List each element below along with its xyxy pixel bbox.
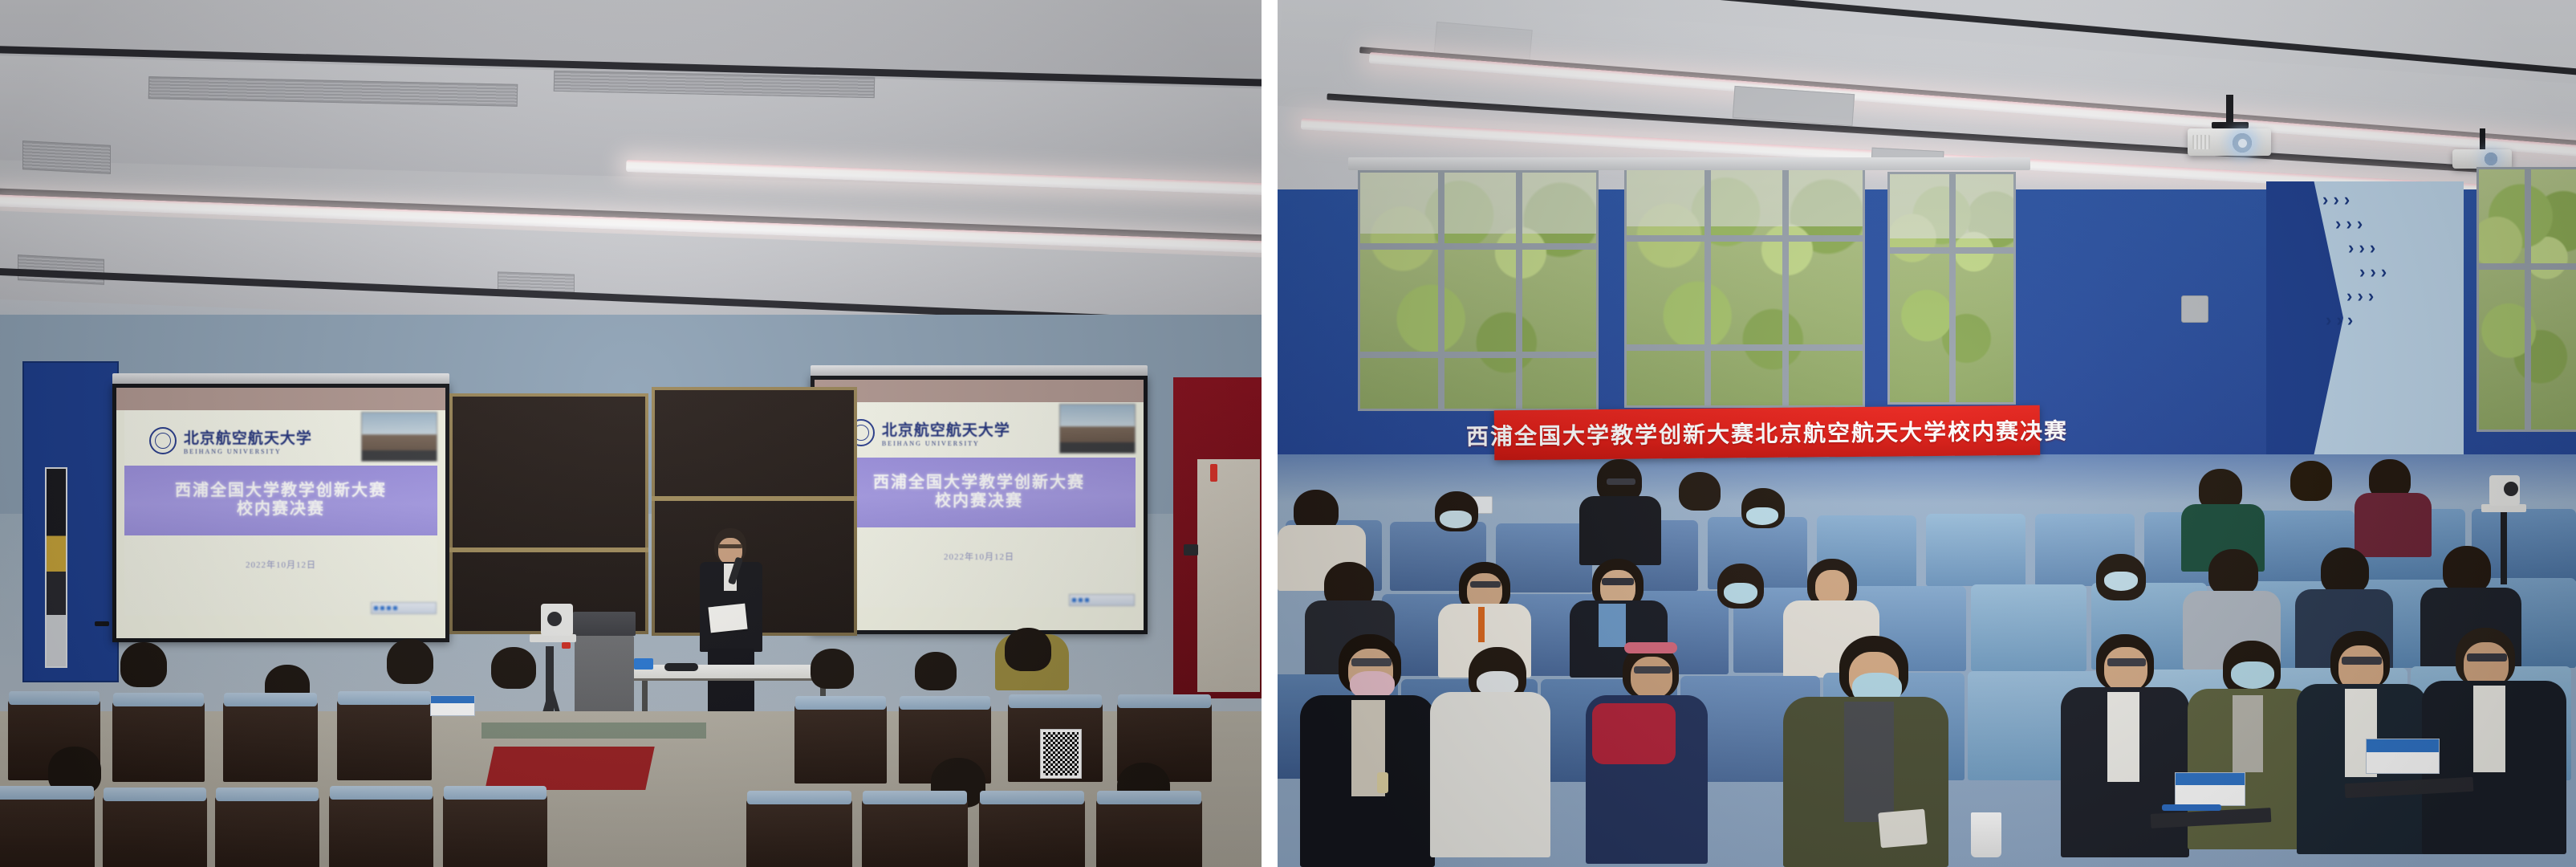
pen xyxy=(2162,804,2221,811)
blackboard-surface xyxy=(453,397,645,631)
projector-pole xyxy=(2480,128,2485,149)
seat[interactable] xyxy=(103,796,207,867)
window-center xyxy=(1624,167,1865,408)
right-photo-panel: 西浦全国大学教学创新大赛北京航空航天大学校内赛决赛 › › › › › › › … xyxy=(1278,0,2576,867)
seat[interactable] xyxy=(1926,514,2025,586)
slide-right: 北京航空航天大学 BEIHANG UNIVERSITY 西浦全国大学教学创新大赛… xyxy=(815,380,1144,630)
face-mask xyxy=(1440,511,1472,528)
judge-face xyxy=(2104,647,2147,692)
slide-title-line2-left: 校内赛决赛 xyxy=(237,500,325,519)
seat[interactable] xyxy=(1971,584,2086,671)
audience-face xyxy=(1631,657,1672,698)
presenter-glasses-icon xyxy=(718,544,742,548)
glasses-icon xyxy=(1351,658,1392,666)
door-tag xyxy=(1210,464,1217,482)
window-mullion xyxy=(1438,173,1444,409)
face-mask xyxy=(1746,507,1778,525)
window-far-right xyxy=(2476,167,2576,432)
conference-speakerphone xyxy=(664,663,698,671)
window-mullion xyxy=(1360,243,1596,250)
slide-logo-row-right: 北京航空航天大学 BEIHANG UNIVERSITY xyxy=(847,409,1084,454)
judge-name-placard xyxy=(2175,772,2245,806)
slide-title-line1-right: 西浦全国大学教学创新大赛 xyxy=(873,474,1085,493)
ceiling-projector-main xyxy=(2183,95,2279,159)
slide-taskbar-right xyxy=(1069,594,1135,607)
table-blue-box xyxy=(634,658,653,670)
slide-left: 北京航空航天大学 BEIHANG UNIVERSITY 西浦全国大学教学创新大赛… xyxy=(116,388,445,638)
face-mask xyxy=(2104,572,2138,591)
slide-university-cn-right: 北京航空航天大学 xyxy=(882,418,1010,440)
slide-logo-row-left: 北京航空航天大学 BEIHANG UNIVERSITY xyxy=(149,417,386,462)
chevron-icon: › › › xyxy=(2346,287,2374,305)
camera-record-light xyxy=(562,642,571,649)
ceiling-grille-1 xyxy=(22,140,111,174)
taskbar-icon xyxy=(1079,598,1083,602)
blackboard-left xyxy=(449,393,648,634)
window-mullion xyxy=(2525,169,2531,429)
tripod-column xyxy=(2501,512,2507,584)
slide-title-banner-left: 西浦全国大学教学创新大赛 校内赛决赛 xyxy=(124,466,437,535)
seat[interactable] xyxy=(1496,523,1592,592)
name-placard xyxy=(430,695,475,716)
glasses-icon xyxy=(1634,666,1671,674)
door-handle[interactable] xyxy=(95,621,109,626)
window-left xyxy=(1358,170,1599,411)
seat[interactable] xyxy=(443,795,547,867)
projector-lens-glow xyxy=(2238,139,2247,148)
presenter-papers xyxy=(708,604,747,633)
slide-taskbar-left xyxy=(371,602,437,615)
audience-head xyxy=(2321,547,2369,594)
screen-case-left xyxy=(112,373,449,384)
window-mullion xyxy=(1627,344,1863,351)
seat[interactable] xyxy=(0,795,95,867)
slide-date-right: 2022年10月12日 xyxy=(815,550,1144,563)
taskbar-icon xyxy=(1072,598,1076,602)
judge-shirt xyxy=(2107,692,2139,782)
judge-shirt xyxy=(2473,686,2505,772)
window-mullion xyxy=(1627,235,1863,242)
audience-head xyxy=(2443,546,2491,592)
slide-title-line2-right: 校内赛决赛 xyxy=(935,492,1023,511)
side-door-right[interactable] xyxy=(1197,459,1260,692)
beihang-seal-icon xyxy=(149,427,177,454)
window-mullion xyxy=(1782,169,1789,405)
audience-head xyxy=(2208,549,2258,596)
slide-date-left: 2022年10月12日 xyxy=(116,558,445,571)
glasses-icon xyxy=(1602,578,1634,585)
audience-head xyxy=(120,642,167,687)
face-mask xyxy=(1724,583,1757,604)
window-mullion xyxy=(1360,352,1596,358)
audience-head xyxy=(1679,472,1721,511)
taskbar-icon xyxy=(387,606,391,610)
seat[interactable] xyxy=(1096,800,1202,867)
lanyard xyxy=(1478,607,1485,642)
podium-top xyxy=(573,612,636,636)
floor-mat xyxy=(481,722,706,739)
audience-shirt xyxy=(1599,604,1626,647)
shade-valance xyxy=(1348,157,2030,170)
chevron-icon: › › › xyxy=(2326,311,2353,329)
face-mask xyxy=(2231,661,2274,689)
chevron-icon: › › › xyxy=(2322,191,2350,209)
seat[interactable] xyxy=(112,702,205,782)
placard-header xyxy=(431,696,474,703)
window-shade xyxy=(1360,173,1596,234)
left-photo-panel: 北京航空航天大学 BEIHANG UNIVERSITY 西浦全国大学教学创新大赛… xyxy=(0,0,1262,867)
chevron-icon: › › › xyxy=(2335,215,2363,233)
paper-cup xyxy=(1971,812,2001,857)
headband xyxy=(1624,642,1677,653)
projection-screen-right: 北京航空航天大学 BEIHANG UNIVERSITY 西浦全国大学教学创新大赛… xyxy=(811,376,1148,634)
side-door-left[interactable] xyxy=(22,361,119,682)
event-banner-text: 西浦全国大学教学创新大赛北京航空航天大学校内赛决赛 xyxy=(1466,413,2068,451)
wall-switch[interactable] xyxy=(1184,544,1198,556)
slide-top-band-right xyxy=(815,380,1144,402)
slide-title-banner-right: 西浦全国大学教学创新大赛 校内赛决赛 xyxy=(823,458,1136,527)
slide-university-cn-left: 北京航空航天大学 xyxy=(184,426,312,448)
camera-lens-icon xyxy=(547,612,562,626)
slide-university-en-right: BEIHANG UNIVERSITY xyxy=(882,440,1010,447)
seat[interactable] xyxy=(337,700,432,780)
window-right xyxy=(1887,172,2016,405)
photo-composite: 北京航空航天大学 BEIHANG UNIVERSITY 西浦全国大学教学创新大赛… xyxy=(0,0,2576,867)
event-banner: 西浦全国大学教学创新大赛北京航空航天大学校内赛决赛 xyxy=(1494,405,2041,461)
panel-gutter xyxy=(1262,0,1278,867)
seat[interactable] xyxy=(979,800,1085,867)
taskbar-icon xyxy=(393,606,397,610)
notebook xyxy=(1878,809,1928,849)
jacket-pattern xyxy=(1592,703,1676,764)
blackboard-rail-left xyxy=(449,547,648,552)
chevron-icon: › › › xyxy=(2348,239,2375,257)
screen-case-right xyxy=(811,365,1148,376)
seat[interactable] xyxy=(329,795,433,867)
seat[interactable] xyxy=(223,702,318,782)
slide-university-en-left: BEIHANG UNIVERSITY xyxy=(184,448,312,455)
window-shade xyxy=(1627,169,1863,226)
taskbar-icon xyxy=(374,606,378,610)
placard-header xyxy=(2367,739,2439,752)
projector-body xyxy=(2452,149,2512,169)
glasses-icon xyxy=(2107,658,2146,666)
window-mullion xyxy=(1516,173,1522,409)
audience-head xyxy=(387,639,433,684)
seat[interactable] xyxy=(215,796,319,867)
glasses-icon xyxy=(2342,657,2382,665)
projector-lens-icon xyxy=(2485,153,2497,165)
chevron-icon: › › › xyxy=(2359,263,2387,281)
lapel-pin xyxy=(1377,772,1388,793)
presenter xyxy=(692,528,769,729)
audience-head xyxy=(1005,628,1051,671)
projection-screen-left: 北京航空航天大学 BEIHANG UNIVERSITY 西浦全国大学教学创新大赛… xyxy=(112,384,449,642)
audience-head xyxy=(491,647,536,689)
glasses-icon xyxy=(2467,653,2507,661)
window-mullion xyxy=(1704,169,1711,405)
qr-code-sign[interactable] xyxy=(1040,729,1082,779)
slide-thumbnail-right xyxy=(1059,404,1135,454)
glasses-icon xyxy=(1470,581,1501,588)
slide-title-line1-left: 西浦全国大学教学创新大赛 xyxy=(175,482,387,501)
wall-speaker xyxy=(2181,295,2208,323)
projector-vent-icon xyxy=(2192,135,2210,149)
blackboard-rail-right xyxy=(652,496,857,501)
stage-carpet xyxy=(485,747,654,790)
audience-person-white-puffer xyxy=(1430,692,1550,857)
door-window xyxy=(45,467,67,668)
judge-name-placard xyxy=(2366,739,2440,774)
seat[interactable] xyxy=(746,800,852,867)
glasses-icon xyxy=(1607,478,1635,485)
taskbar-icon xyxy=(380,606,384,610)
audience-tshirt xyxy=(1844,702,1894,822)
seat[interactable] xyxy=(862,800,968,867)
audience-head xyxy=(2290,461,2332,501)
audience-person-dark-turtleneck xyxy=(1579,496,1661,565)
audience-person-maroon xyxy=(2355,493,2432,557)
seat[interactable] xyxy=(794,705,887,784)
placard-header xyxy=(2176,773,2245,785)
slide-top-band-left xyxy=(116,388,445,410)
slide-thumbnail-bar-left xyxy=(362,450,436,461)
projector-mount xyxy=(2212,122,2249,128)
taskbar-icon xyxy=(1085,598,1089,602)
audience-head xyxy=(811,649,854,689)
audience-head xyxy=(915,652,957,690)
slide-thumbnail-left xyxy=(361,412,437,462)
slide-thumbnail-bar-right xyxy=(1060,442,1134,453)
projector-pole xyxy=(2226,95,2233,124)
window-mullion xyxy=(1949,174,1956,402)
camera-lens-icon xyxy=(2504,482,2518,496)
judge-inner-top xyxy=(2233,695,2263,772)
